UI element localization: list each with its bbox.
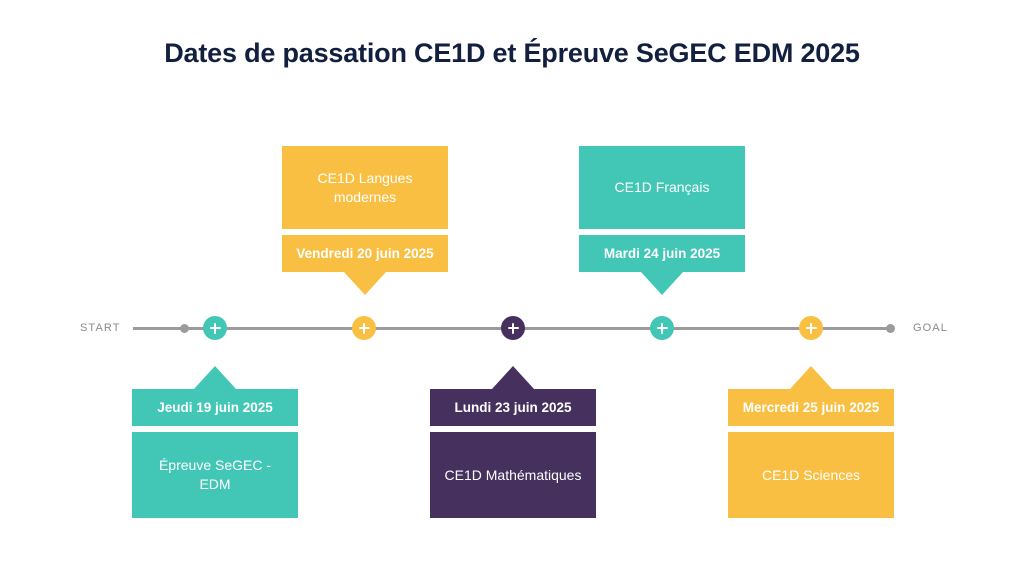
- card-label-4: CE1D Sciences: [728, 432, 894, 518]
- card-date-0: Jeudi 19 juin 2025: [132, 389, 298, 426]
- axis-start-dot: [180, 324, 189, 333]
- card-pointer-3: [641, 272, 683, 295]
- plus-icon: [806, 323, 817, 334]
- plus-icon: [359, 323, 370, 334]
- axis-goal-dot: [886, 324, 895, 333]
- card-pointer-2: [492, 366, 534, 389]
- timeline-card-4[interactable]: Mercredi 25 juin 2025 CE1D Sciences: [728, 366, 894, 518]
- timeline-marker-0[interactable]: [203, 316, 227, 340]
- card-label-1: CE1D Langues modernes: [282, 146, 448, 229]
- card-pointer-4: [790, 366, 832, 389]
- card-date-4: Mercredi 25 juin 2025: [728, 389, 894, 426]
- timeline-card-3[interactable]: CE1D Français Mardi 24 juin 2025: [579, 146, 745, 295]
- card-label-3: CE1D Français: [579, 146, 745, 229]
- timeline-card-2[interactable]: Lundi 23 juin 2025 CE1D Mathématiques: [430, 366, 596, 518]
- card-date-3: Mardi 24 juin 2025: [579, 235, 745, 272]
- timeline-marker-4[interactable]: [799, 316, 823, 340]
- axis-goal-label: GOAL: [913, 322, 948, 334]
- card-date-1: Vendredi 20 juin 2025: [282, 235, 448, 272]
- card-pointer-0: [194, 366, 236, 389]
- plus-icon: [210, 323, 221, 334]
- timeline-marker-2[interactable]: [501, 316, 525, 340]
- timeline-card-1[interactable]: CE1D Langues modernes Vendredi 20 juin 2…: [282, 146, 448, 295]
- timeline-card-0[interactable]: Jeudi 19 juin 2025 Épreuve SeGEC - EDM: [132, 366, 298, 518]
- card-label-2: CE1D Mathématiques: [430, 432, 596, 518]
- card-pointer-1: [344, 272, 386, 295]
- axis-start-label: START: [80, 322, 121, 334]
- timeline-marker-3[interactable]: [650, 316, 674, 340]
- card-date-2: Lundi 23 juin 2025: [430, 389, 596, 426]
- timeline-infographic: Dates de passation CE1D et Épreuve SeGEC…: [0, 0, 1024, 576]
- page-title: Dates de passation CE1D et Épreuve SeGEC…: [0, 38, 1024, 69]
- timeline-marker-1[interactable]: [352, 316, 376, 340]
- plus-icon: [657, 323, 668, 334]
- plus-icon: [508, 323, 519, 334]
- card-label-0: Épreuve SeGEC - EDM: [132, 432, 298, 518]
